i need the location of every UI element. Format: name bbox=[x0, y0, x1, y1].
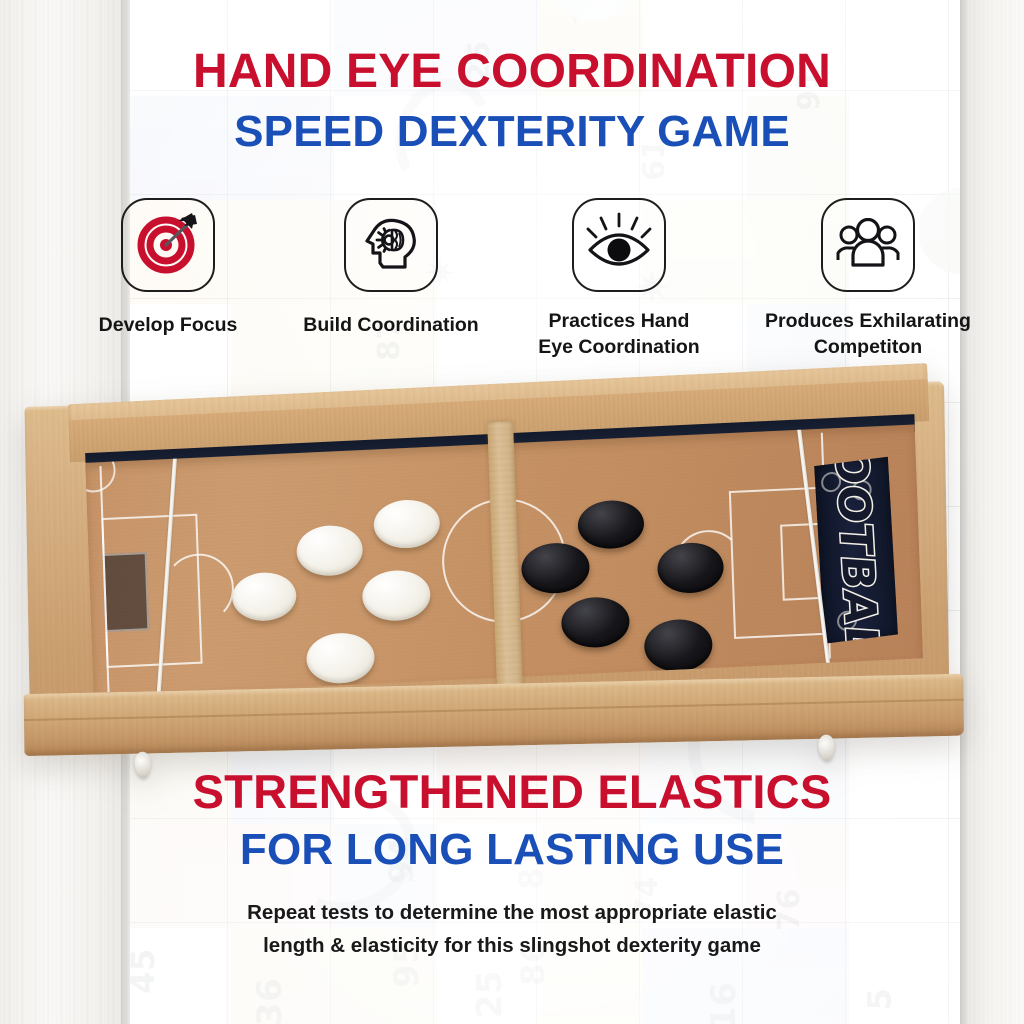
puck-white[interactable] bbox=[361, 569, 431, 622]
feature-list: Develop Focus Build Coordination bbox=[60, 198, 1000, 388]
bottom-subtext: Repeat tests to determine the most appro… bbox=[0, 896, 1024, 962]
product-feature-graphic: ✷ ✷ ✦ 25 61 91 87 56 94 95 96 87 86 85 4… bbox=[0, 0, 1024, 1024]
product-image-slingshot-board-game: slingshot-football-board-game bbox=[22, 378, 1002, 778]
bottom-headline-primary: STRENGTHENED ELASTICS bbox=[0, 768, 1024, 815]
feature-icon-card bbox=[821, 198, 915, 292]
feature-label: Practices Hand Eye Coordination bbox=[508, 308, 730, 360]
elastic-knot-right bbox=[818, 734, 834, 760]
feature-practices-hand-eye-coordination: Practices Hand Eye Coordination bbox=[508, 198, 730, 360]
people-group-icon bbox=[836, 218, 900, 273]
feature-build-coordination: Build Coordination bbox=[282, 198, 500, 338]
eye-icon bbox=[586, 212, 652, 279]
puck-white[interactable] bbox=[306, 632, 376, 685]
board-photo: FOOTBALL bbox=[22, 378, 1002, 778]
feature-icon-card bbox=[344, 198, 438, 292]
top-headline-primary: HAND EYE COORDINATION bbox=[0, 48, 1024, 96]
puck-black[interactable] bbox=[577, 499, 645, 550]
puck-black[interactable] bbox=[561, 596, 631, 649]
bottom-headline-secondary: FOR LONG LASTING USE bbox=[0, 828, 1024, 872]
feature-icon-card bbox=[121, 198, 215, 292]
feature-icon-card bbox=[572, 198, 666, 292]
puck-white[interactable] bbox=[296, 524, 364, 577]
brand-strip: FOOTBALL bbox=[814, 457, 898, 644]
bottom-subtext-line1: Repeat tests to determine the most appro… bbox=[0, 896, 1024, 929]
head-brain-gear-icon bbox=[361, 213, 421, 278]
puck-white[interactable] bbox=[373, 499, 441, 550]
feature-label: Develop Focus bbox=[60, 312, 276, 338]
top-headline-secondary: SPEED DEXTERITY GAME bbox=[0, 110, 1024, 154]
target-arrow-icon bbox=[137, 212, 199, 279]
pitch-goal-box-left bbox=[103, 552, 150, 632]
feature-label: Produces Exhilarating Competiton bbox=[736, 308, 1000, 360]
puck-black[interactable] bbox=[643, 618, 713, 673]
brand-text: FOOTBALL bbox=[823, 457, 889, 644]
feature-produces-exhilarating-competition: Produces Exhilarating Competiton bbox=[736, 198, 1000, 360]
puck-white[interactable] bbox=[231, 571, 297, 622]
bottom-subtext-line2: length & elasticity for this slingshot d… bbox=[0, 929, 1024, 962]
feature-develop-focus: Develop Focus bbox=[60, 198, 276, 338]
game-board: FOOTBALL bbox=[24, 381, 949, 737]
feature-label: Build Coordination bbox=[282, 312, 500, 338]
